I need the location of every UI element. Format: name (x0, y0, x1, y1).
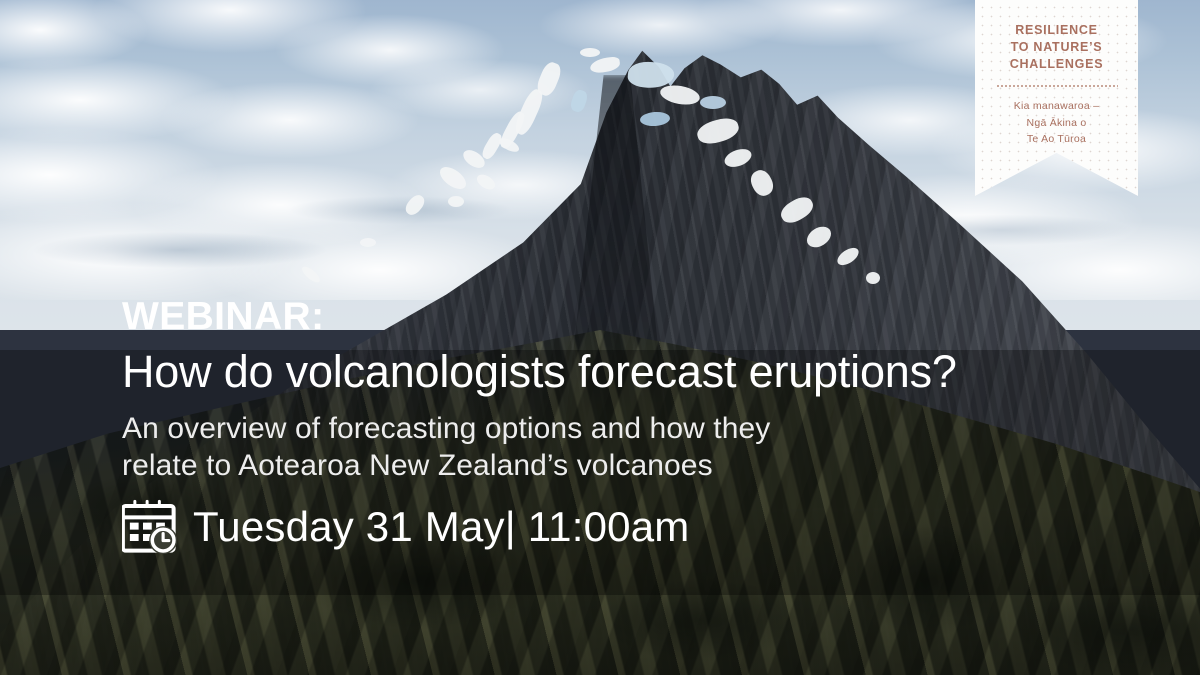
snow-patch (866, 272, 880, 284)
logo-title: RESILIENCE TO NATURE’S CHALLENGES (987, 22, 1126, 72)
webinar-datetime: Tuesday 31 May| 11:00am (193, 503, 689, 551)
logo-title-line3: CHALLENGES (987, 56, 1126, 73)
logo-subtitle-line3: Te Ao Tūroa (987, 131, 1126, 147)
snow-patch (569, 88, 589, 113)
webinar-datetime-row: Tuesday 31 May| 11:00am (122, 499, 1162, 555)
webinar-subhead-line2: relate to Aotearoa New Zealand’s volcano… (122, 447, 1162, 485)
calendar-clock-icon (122, 499, 178, 555)
snow-patch (589, 56, 621, 74)
snow-patch (448, 196, 464, 207)
snow-patch (403, 192, 428, 218)
webinar-promo-banner: WEBINAR: How do volcanologists forecast … (0, 0, 1200, 675)
webinar-kicker: WEBINAR: (122, 296, 1162, 338)
webinar-headline: How do volcanologists forecast eruptions… (122, 347, 1162, 397)
snow-patch (300, 264, 323, 285)
logo-title-line1: RESILIENCE (987, 22, 1126, 39)
logo-subtitle-line1: Kia manawaroa – (987, 98, 1126, 114)
logo-title-line2: TO NATURE’S (987, 39, 1126, 56)
logo-dotted-divider (996, 85, 1118, 87)
snow-patch (436, 163, 470, 194)
snow-patch (580, 48, 600, 57)
banner-text-content: WEBINAR: How do volcanologists forecast … (122, 296, 1162, 555)
logo-subtitle: Kia manawaroa – Ngā Ākina o Te Ao Tūroa (987, 98, 1126, 147)
webinar-subhead-line1: An overview of forecasting options and h… (122, 412, 770, 445)
snow-patch (700, 96, 726, 109)
snow-patch (474, 172, 497, 193)
logo-subtitle-line2: Ngā Ākina o (987, 115, 1126, 131)
snow-patch (360, 238, 376, 247)
webinar-subhead: An overview of forecasting options and h… (122, 410, 1162, 486)
